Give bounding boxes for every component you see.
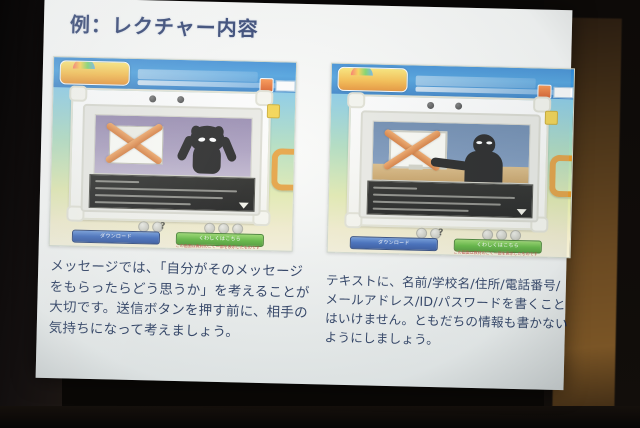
scene-illustration (371, 121, 530, 185)
frame-knob-left (427, 102, 434, 109)
content-frame (346, 94, 549, 231)
orange-clip-decoration (549, 155, 574, 198)
download-button[interactable]: ダウンロード (72, 230, 160, 245)
rainbow-icon (73, 60, 95, 69)
rainbow-icon (351, 67, 373, 76)
dialog-text-line (95, 180, 139, 183)
next-caret-icon[interactable] (517, 209, 527, 215)
orange-clip-decoration (271, 148, 296, 191)
dialog-text-line (373, 187, 417, 190)
person-character (456, 134, 515, 183)
monster-body (192, 141, 221, 174)
viewer-area (81, 104, 263, 216)
person-eye-left (476, 141, 482, 144)
dialog-text-line (95, 201, 191, 205)
monster-arm-right (219, 135, 237, 162)
frame-corner-top-left (69, 85, 87, 101)
caption-left: メッセージでは、「自分がそのメッセージ をもらったらどう思うか」を考えることが … (49, 256, 309, 344)
room-wall-bottom (0, 406, 640, 428)
help-icon[interactable]: ? (438, 228, 443, 238)
frame-corner-top-left (347, 92, 365, 108)
dialog-box[interactable] (89, 174, 256, 212)
frame-knob-right (177, 96, 184, 103)
photo-of-projection-screen: 例：レクチャー内容 (0, 0, 640, 428)
warning-badge-icon (545, 111, 558, 125)
dialog-text-line (95, 194, 223, 199)
next-caret-icon[interactable] (239, 202, 249, 208)
app-screenshot-left: ? ダウンロード くわしくはこちら この画面は教材のごく一部を表示したものです (49, 56, 297, 252)
button-note: この画面は教材のごく一部を表示したものです (176, 244, 272, 251)
person-body (464, 151, 503, 183)
frame-knob-right (455, 103, 462, 110)
button-note: この画面は教材のごく一部を表示したものです (454, 251, 550, 258)
warning-badge-icon (267, 104, 280, 118)
dialog-box[interactable] (367, 180, 534, 218)
header-search-field[interactable] (553, 87, 573, 98)
cross-out-icon (101, 119, 168, 165)
projection-screen: 例：レクチャー内容 (36, 0, 573, 390)
dialog-text-line (373, 201, 501, 206)
caption-right: テキストに、名前/学校名/住所/電話番号/ メールアドレス/ID/パスワードを書… (324, 271, 558, 353)
app-logo[interactable] (60, 60, 131, 86)
page-title: 例：レクチャー内容 (70, 8, 259, 41)
frame-knob-left (149, 95, 156, 102)
download-button[interactable]: ダウンロード (350, 236, 438, 251)
dialog-text-line (95, 187, 237, 192)
dialog-text-line (373, 194, 515, 199)
app-screenshot-right: ? ダウンロード くわしくはこちら この画面は教材のごく一部を表示したものです (327, 63, 575, 259)
dialog-text-line (373, 208, 469, 212)
monster-character (184, 123, 229, 174)
scene-illustration (93, 114, 252, 178)
help-icon[interactable]: ? (160, 222, 165, 232)
viewer-area (358, 110, 540, 222)
content-frame (68, 87, 271, 224)
header-search-field[interactable] (275, 80, 295, 91)
person-eye-right (486, 141, 492, 144)
app-logo[interactable] (337, 67, 408, 93)
